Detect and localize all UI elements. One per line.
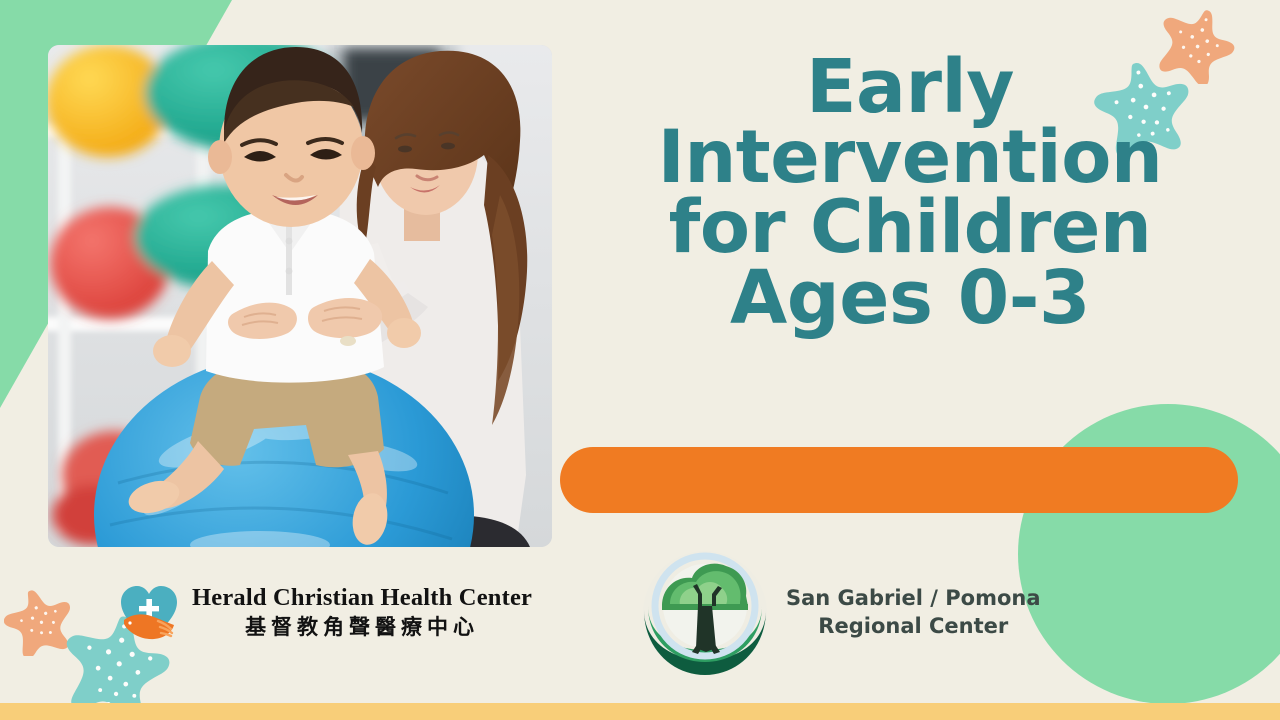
tree-circle-icon	[640, 548, 770, 678]
logo-hchc-name-en: Herald Christian Health Center	[192, 585, 532, 612]
logo-hchc-name-zh: 基督教角聲醫療中心	[245, 614, 479, 640]
hero-photo-illustration	[48, 45, 552, 547]
title-line-4: Ages 0-3	[560, 263, 1260, 334]
heart-dove-cross-icon	[118, 582, 180, 644]
logo-sgprc-name-line2: Regional Center	[786, 613, 1041, 641]
yellow-bottom-bar	[0, 703, 1280, 720]
title-line-1: Early	[560, 52, 1260, 123]
slide-canvas: Early Intervention for Children Ages 0-3	[0, 0, 1280, 720]
logo-sgprc-name-line1: San Gabriel / Pomona	[786, 585, 1041, 613]
logo-herald-christian-health-center: Herald Christian Health Center 基督教角聲醫療中心	[118, 582, 532, 644]
orange-banner-bar[interactable]	[560, 447, 1238, 513]
title-line-3: for Children	[560, 193, 1260, 263]
hero-photo	[48, 45, 552, 547]
logo-hchc-text: Herald Christian Health Center 基督教角聲醫療中心	[192, 585, 532, 640]
page-title: Early Intervention for Children Ages 0-3	[560, 52, 1260, 334]
logo-san-gabriel-pomona-regional-center: San Gabriel / Pomona Regional Center	[640, 548, 1041, 678]
logo-sgprc-text: San Gabriel / Pomona Regional Center	[786, 585, 1041, 640]
title-line-2: Intervention	[560, 123, 1260, 193]
